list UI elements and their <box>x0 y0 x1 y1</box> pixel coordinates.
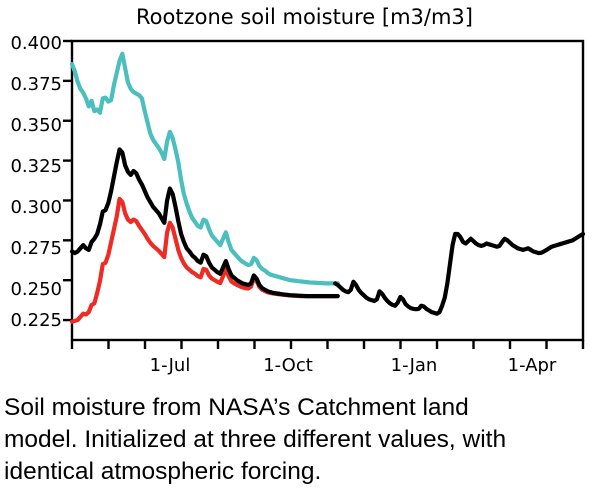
xtick-label-1-apr: 1-Apr <box>482 355 582 376</box>
caption-line-3: identical atmospheric forcing. <box>4 456 605 488</box>
ytick-label-0275: 0.275 <box>0 238 62 259</box>
xtick-label-1-jan: 1-Jan <box>364 355 464 376</box>
ytick-label-0350: 0.350 <box>0 115 62 136</box>
series-line-high-initialization <box>72 54 338 284</box>
series-line-converged-trajectory <box>335 234 583 314</box>
xtick-label-1-jul: 1-Jul <box>120 355 220 376</box>
series-lines <box>72 54 583 322</box>
caption-line-1: Soil moisture from NASA’s Catchment land <box>4 392 605 424</box>
series-line-low-initialization <box>72 199 338 322</box>
xtick-label-1-oct: 1-Oct <box>238 355 338 376</box>
xtick-marks <box>72 340 583 349</box>
ytick-label-0225: 0.225 <box>0 310 62 331</box>
ytick-label-0300: 0.300 <box>0 197 62 218</box>
plot-group <box>63 41 583 349</box>
ytick-label-0375: 0.375 <box>0 74 62 95</box>
chart-figure: Rootzone soil moisture [m3/m3] 0.400 0.3… <box>0 0 609 388</box>
ytick-label-0325: 0.325 <box>0 156 62 177</box>
chart-title: Rootzone soil moisture [m3/m3] <box>0 5 609 29</box>
figure-caption: Soil moisture from NASA’s Catchment land… <box>0 392 609 488</box>
ytick-label-0400: 0.400 <box>0 33 62 54</box>
ytick-marks <box>63 41 72 320</box>
chart-plot-area <box>0 0 609 388</box>
ytick-label-0250: 0.250 <box>0 279 62 300</box>
figure-page: Rootzone soil moisture [m3/m3] 0.400 0.3… <box>0 0 609 496</box>
caption-line-2: model. Initialized at three different va… <box>4 424 605 456</box>
